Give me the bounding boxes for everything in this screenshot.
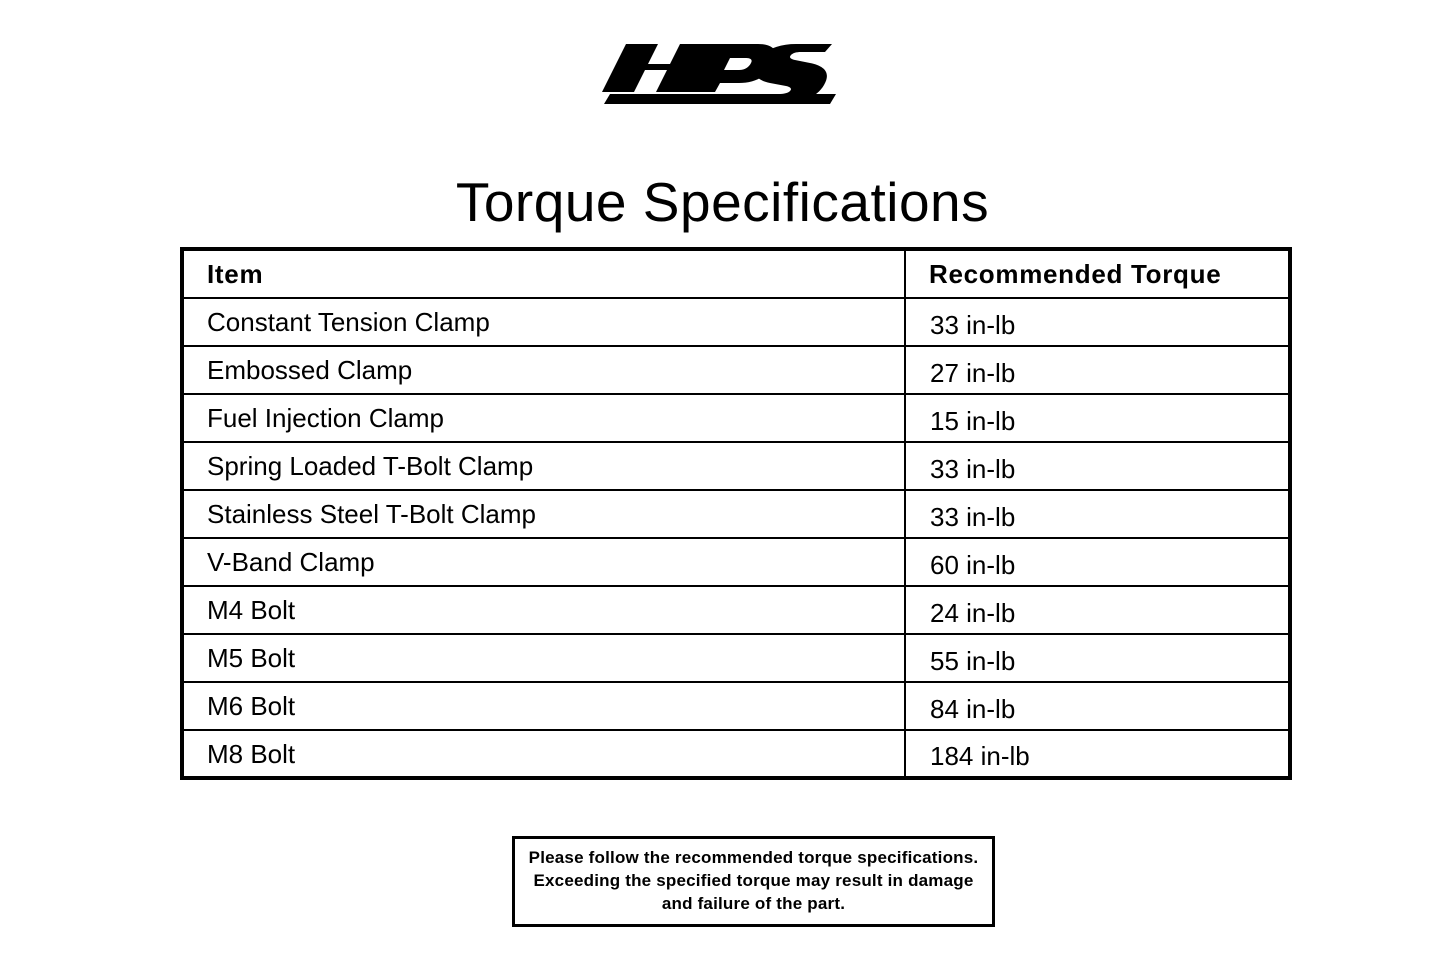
table-row: Spring Loaded T-Bolt Clamp33 in-lb [182, 442, 1290, 490]
footer-note-box: Please follow the recommended torque spe… [512, 836, 995, 927]
table-row: Fuel Injection Clamp15 in-lb [182, 394, 1290, 442]
footer-note-line-1: Please follow the recommended torque spe… [525, 846, 982, 869]
table-row: M6 Bolt84 in-lb [182, 682, 1290, 730]
column-header-item: Item [182, 249, 905, 298]
cell-recommended-torque: 184 in-lb [905, 730, 1290, 778]
cell-item: Embossed Clamp [182, 346, 905, 394]
table-body: Constant Tension Clamp33 in-lbEmbossed C… [182, 298, 1290, 778]
table-row: Embossed Clamp27 in-lb [182, 346, 1290, 394]
cell-recommended-torque: 33 in-lb [905, 490, 1290, 538]
cell-item: Constant Tension Clamp [182, 298, 905, 346]
cell-item: M6 Bolt [182, 682, 905, 730]
column-header-recommended-torque: Recommended Torque [905, 249, 1290, 298]
cell-recommended-torque: 33 in-lb [905, 442, 1290, 490]
cell-item: M4 Bolt [182, 586, 905, 634]
table-row: M4 Bolt24 in-lb [182, 586, 1290, 634]
torque-spec-table: Item Recommended Torque Constant Tension… [180, 247, 1292, 780]
table-row: Stainless Steel T-Bolt Clamp33 in-lb [182, 490, 1290, 538]
cell-item: Stainless Steel T-Bolt Clamp [182, 490, 905, 538]
cell-recommended-torque: 24 in-lb [905, 586, 1290, 634]
table-row: M8 Bolt184 in-lb [182, 730, 1290, 778]
cell-item: M5 Bolt [182, 634, 905, 682]
hps-logo-icon [596, 40, 836, 104]
table-header-row: Item Recommended Torque [182, 249, 1290, 298]
table-row: Constant Tension Clamp33 in-lb [182, 298, 1290, 346]
page-title: Torque Specifications [0, 167, 1445, 237]
torque-spec-table-container: Item Recommended Torque Constant Tension… [180, 247, 1288, 780]
table-row: M5 Bolt55 in-lb [182, 634, 1290, 682]
cell-item: Fuel Injection Clamp [182, 394, 905, 442]
table-row: V-Band Clamp60 in-lb [182, 538, 1290, 586]
cell-recommended-torque: 84 in-lb [905, 682, 1290, 730]
table-header: Item Recommended Torque [182, 249, 1290, 298]
footer-note-line-3: and failure of the part. [525, 892, 982, 915]
cell-recommended-torque: 15 in-lb [905, 394, 1290, 442]
cell-recommended-torque: 27 in-lb [905, 346, 1290, 394]
cell-recommended-torque: 55 in-lb [905, 634, 1290, 682]
cell-item: Spring Loaded T-Bolt Clamp [182, 442, 905, 490]
cell-item: V-Band Clamp [182, 538, 905, 586]
cell-item: M8 Bolt [182, 730, 905, 778]
cell-recommended-torque: 33 in-lb [905, 298, 1290, 346]
footer-note-line-2: Exceeding the specified torque may resul… [525, 869, 982, 892]
cell-recommended-torque: 60 in-lb [905, 538, 1290, 586]
